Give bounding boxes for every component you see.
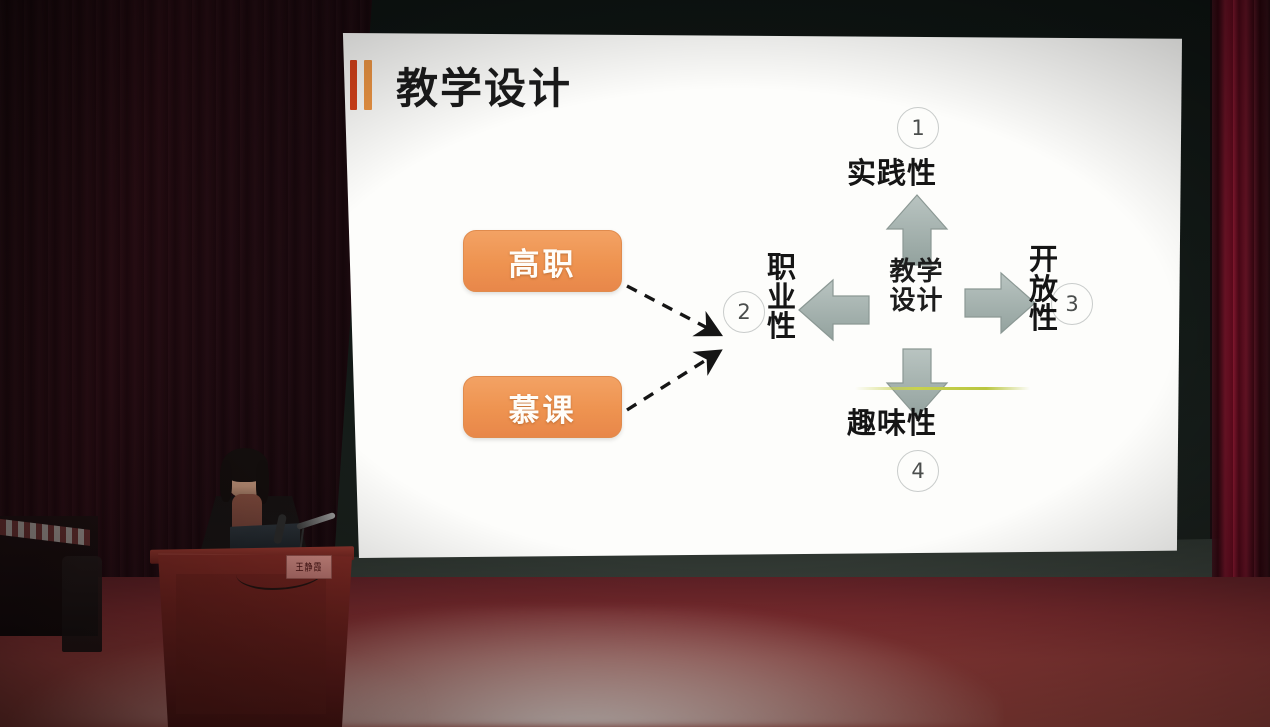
podium-name-card: 王静霞 — [286, 555, 332, 579]
title-accent-bars — [350, 60, 372, 110]
diagram-center-label: 教学设计 — [859, 258, 974, 316]
chair — [62, 556, 102, 652]
stage-curtain-right — [1212, 0, 1270, 650]
slide-title: 教学设计 — [396, 55, 572, 116]
presentation-photo: 教学设计 高职 慕课 — [0, 0, 1270, 727]
arrow-right — [965, 273, 1035, 333]
slide-content: 教学设计 高职 慕课 — [337, 33, 1182, 558]
spoke-label-kaifangxing: 开放性 — [1027, 245, 1061, 334]
podium-front-panel — [176, 574, 326, 714]
spoke-number-2: 2 — [723, 291, 765, 333]
spoke-label-quweixing: 趣味性 — [847, 400, 937, 442]
accent-bar-1 — [350, 60, 357, 110]
source-box-muke-label: 慕课 — [509, 385, 577, 430]
presenter-hair-left — [220, 460, 232, 502]
arrow-up — [887, 195, 947, 265]
projection-screen: 教学设计 高职 慕课 — [337, 33, 1182, 558]
green-underline — [855, 387, 1030, 390]
podium-name-card-text: 王静霞 — [296, 560, 323, 573]
spoke-label-shijianxing: 实践性 — [847, 150, 937, 192]
spoke-number-4: 4 — [897, 450, 939, 492]
accent-bar-2 — [364, 60, 372, 110]
source-box-muke: 慕课 — [463, 376, 622, 438]
teaching-design-diagram: 教学设计 1 2 3 4 实践性 职业性 开放性 趣味性 — [707, 105, 1147, 505]
spoke-number-1: 1 — [897, 107, 939, 149]
source-box-gaozhi-label: 高职 — [509, 239, 577, 284]
spoke-label-zhiyexing: 职业性 — [765, 253, 799, 342]
source-box-gaozhi: 高职 — [463, 230, 622, 292]
